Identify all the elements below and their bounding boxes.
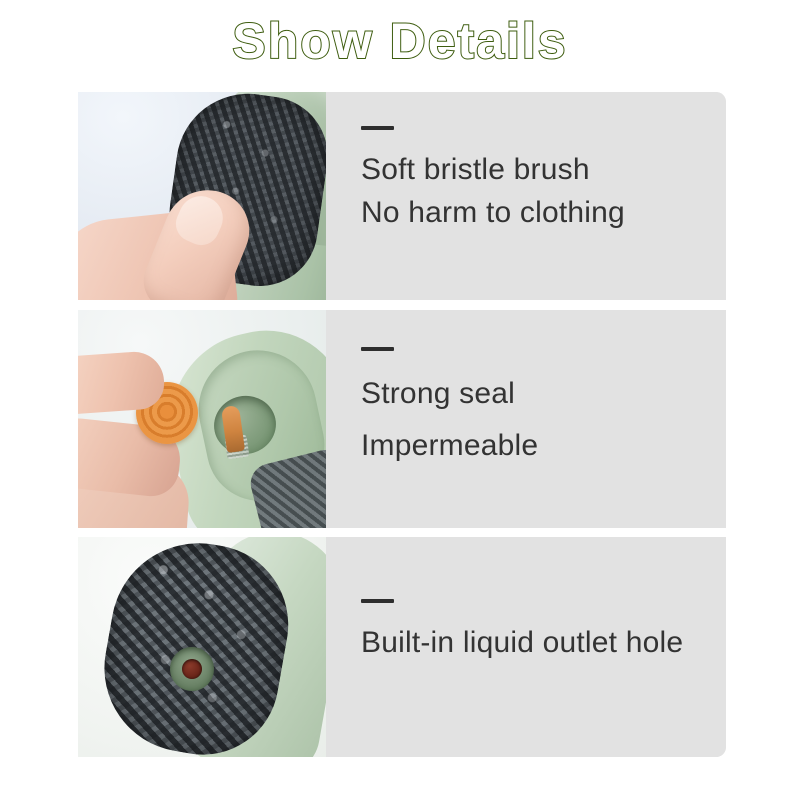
product-photo-soft-bristle-brush <box>78 92 326 300</box>
feature-panel-liquid-outlet-hole: Built-in liquid outlet hole <box>78 537 726 757</box>
page-title-container: Show Details <box>0 14 800 69</box>
feature-line: Impermeable <box>361 420 716 472</box>
product-photo-liquid-outlet-hole <box>78 537 326 757</box>
feature-line: Soft bristle brush <box>361 148 716 191</box>
feature-line: No harm to clothing <box>361 191 716 234</box>
dash-marker-icon <box>361 126 394 130</box>
feature-line: Built-in liquid outlet hole <box>361 621 716 665</box>
feature-text-area: Built-in liquid outlet hole <box>326 537 726 757</box>
feature-text-area: Strong seal Impermeable <box>326 310 726 528</box>
dash-marker-icon <box>361 347 394 351</box>
feature-text-lines: Strong seal Impermeable <box>361 368 716 472</box>
dash-marker-icon <box>361 599 394 603</box>
feature-panel-soft-bristle-brush: Soft bristle brush No harm to clothing <box>78 92 726 300</box>
feature-text-area: Soft bristle brush No harm to clothing <box>326 92 726 300</box>
liquid-outlet-hole-core <box>182 659 202 679</box>
product-detail-page: Show Details Soft bristle brush No harm … <box>0 0 800 800</box>
feature-text-lines: Built-in liquid outlet hole <box>361 621 716 665</box>
feature-text-lines: Soft bristle brush No harm to clothing <box>361 148 716 234</box>
feature-panel-strong-seal: Strong seal Impermeable <box>78 310 726 528</box>
feature-line: Strong seal <box>361 368 716 420</box>
product-photo-strong-seal <box>78 310 326 528</box>
page-title: Show Details <box>232 14 567 69</box>
